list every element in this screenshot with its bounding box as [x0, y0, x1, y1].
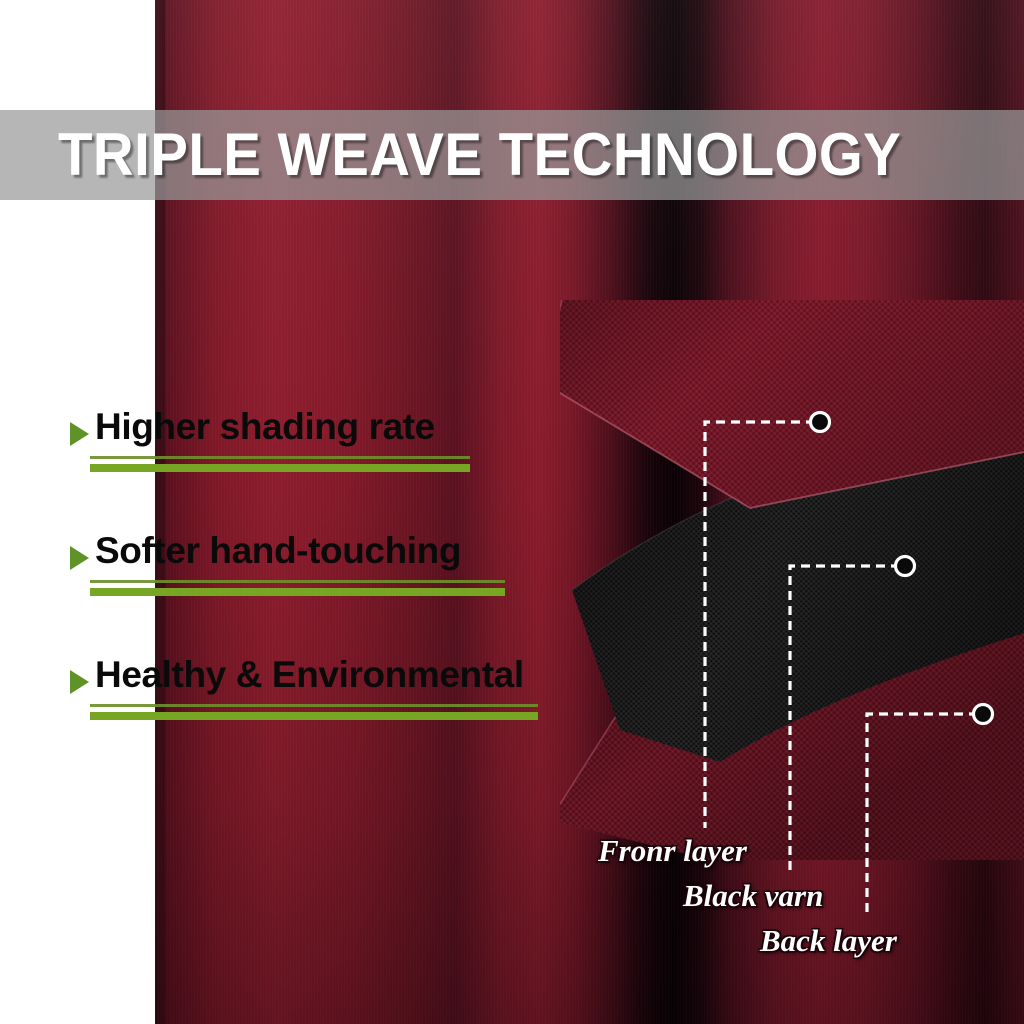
feature-underline-thin [90, 580, 505, 583]
feature-label: Higher shading rate [68, 404, 560, 450]
feature-item-healthy-environmental: Healthy & Environmental [0, 652, 560, 720]
feature-label: Softer hand-touching [68, 528, 560, 574]
layer-label-back: Back layer [760, 925, 897, 956]
feature-underline-thin [90, 704, 538, 707]
triangle-right-icon [70, 422, 89, 446]
feature-underline-thick [90, 712, 538, 720]
layer-label-black-yarn: Black varn [683, 880, 823, 911]
feature-underline-group [90, 580, 505, 596]
feature-underline-group [90, 704, 538, 720]
fabric-layer-diagram [560, 300, 1024, 860]
feature-underline-group [90, 456, 470, 472]
layer-label-front: Fronr layer [598, 835, 747, 866]
feature-underline-thin [90, 456, 470, 459]
feature-item-higher-shading-rate: Higher shading rate [0, 404, 560, 472]
feature-item-softer-hand-touching: Softer hand-touching [0, 528, 560, 596]
feature-list: Higher shading rate Softer hand-touching… [0, 404, 560, 776]
feature-underline-thick [90, 588, 505, 596]
product-feature-image: TRIPLE WEAVE TECHNOLOGY Higher shading r… [0, 0, 1024, 1024]
triangle-right-icon [70, 670, 89, 694]
feature-underline-thick [90, 464, 470, 472]
triangle-right-icon [70, 546, 89, 570]
title-banner: TRIPLE WEAVE TECHNOLOGY [0, 110, 1024, 200]
page-title: TRIPLE WEAVE TECHNOLOGY [58, 125, 901, 185]
feature-label: Healthy & Environmental [68, 652, 560, 698]
